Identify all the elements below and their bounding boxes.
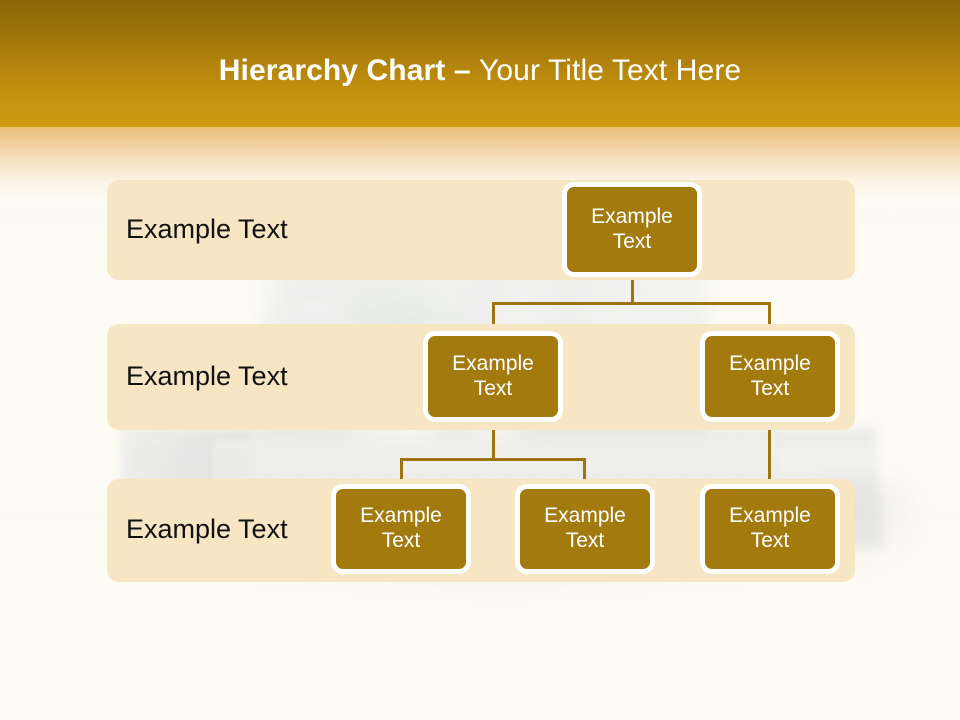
connector-l2n1-bus bbox=[400, 458, 586, 461]
connector-l2n1-stem bbox=[492, 428, 495, 460]
node-level2-1-line1: Example bbox=[452, 352, 534, 377]
node-level3-3-line2: Text bbox=[729, 529, 811, 554]
node-level2-1[interactable]: Example Text bbox=[423, 331, 563, 422]
node-level1-1[interactable]: Example Text bbox=[562, 182, 702, 277]
connector-l1-stem bbox=[631, 280, 634, 304]
level-2-label: Example Text bbox=[126, 363, 288, 390]
node-level2-2-line2: Text bbox=[729, 377, 811, 402]
connector-l1-bus bbox=[492, 302, 771, 305]
node-level2-2-line1: Example bbox=[729, 352, 811, 377]
node-level3-1-line2: Text bbox=[360, 529, 442, 554]
level-3-label: Example Text bbox=[126, 516, 288, 543]
page-title-dash: – bbox=[454, 54, 479, 87]
page-title-bold: Hierarchy Chart bbox=[219, 54, 454, 87]
node-level3-3-line1: Example bbox=[729, 504, 811, 529]
hierarchy-level-1-band: Example Text bbox=[107, 180, 855, 280]
level-1-label: Example Text bbox=[126, 216, 288, 243]
node-level3-3[interactable]: Example Text bbox=[700, 484, 840, 574]
node-level3-2-line2: Text bbox=[544, 529, 626, 554]
slide-canvas: Hierarchy Chart – Your Title Text Here E… bbox=[0, 0, 960, 720]
page-title: Hierarchy Chart – Your Title Text Here bbox=[0, 54, 960, 88]
node-level1-1-line2: Text bbox=[591, 230, 673, 255]
node-level3-2-line1: Example bbox=[544, 504, 626, 529]
page-title-light: Your Title Text Here bbox=[479, 54, 741, 87]
node-level2-2[interactable]: Example Text bbox=[700, 331, 840, 422]
node-level2-1-line2: Text bbox=[452, 377, 534, 402]
node-level3-1-line1: Example bbox=[360, 504, 442, 529]
node-level3-2[interactable]: Example Text bbox=[515, 484, 655, 574]
node-level1-1-line1: Example bbox=[591, 205, 673, 230]
node-level3-1[interactable]: Example Text bbox=[331, 484, 471, 574]
